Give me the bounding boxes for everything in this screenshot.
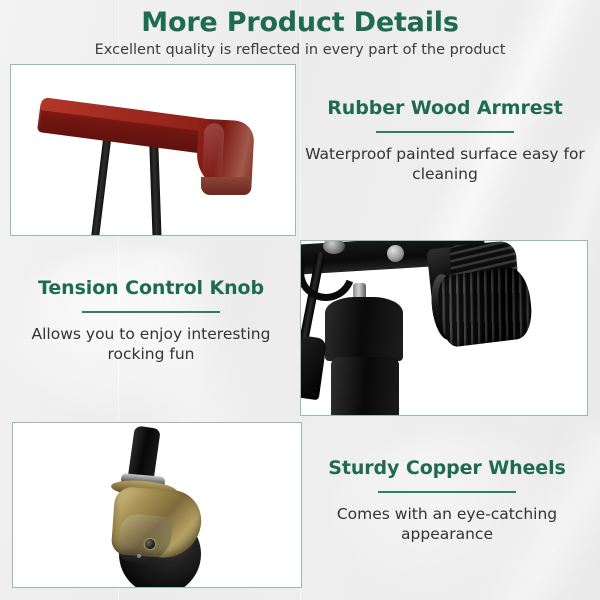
feature-tension-control-knob: Tension Control Knob Allows you to enjoy… bbox=[6, 278, 296, 365]
tension-knob-illustration bbox=[301, 241, 587, 415]
heading-underline bbox=[82, 311, 220, 313]
gas-cylinder-top bbox=[325, 297, 403, 361]
feature-description: Waterproof painted surface easy for clea… bbox=[302, 144, 588, 185]
page-subtitle: Excellent quality is reflected in every … bbox=[0, 37, 600, 59]
copper-wheel-photo bbox=[12, 422, 302, 588]
feature-rubber-wood-armrest: Rubber Wood Armrest Waterproof painted s… bbox=[302, 98, 588, 185]
chair-leg bbox=[149, 143, 161, 236]
chair-leg bbox=[90, 135, 111, 236]
feature-heading: Rubber Wood Armrest bbox=[302, 98, 588, 120]
wheel-hub bbox=[145, 539, 155, 549]
tension-knob-photo bbox=[300, 240, 588, 416]
header: More Product Details Excellent quality i… bbox=[0, 0, 600, 60]
product-details-infographic: More Product Details Excellent quality i… bbox=[0, 0, 600, 600]
heading-underline bbox=[376, 131, 514, 133]
feature-heading: Sturdy Copper Wheels bbox=[306, 458, 588, 480]
mechanism-rivet bbox=[387, 245, 404, 262]
armrest-photo bbox=[10, 64, 296, 236]
feature-description: Comes with an eye-catching appearance bbox=[306, 504, 588, 545]
feature-sturdy-copper-wheels: Sturdy Copper Wheels Comes with an eye-c… bbox=[306, 458, 588, 545]
gas-cylinder-tube bbox=[331, 357, 399, 416]
lever-grip bbox=[300, 336, 327, 401]
feature-heading: Tension Control Knob bbox=[6, 278, 296, 300]
armrest-front-tip bbox=[201, 177, 251, 195]
knurled-knob-dial bbox=[435, 266, 535, 349]
wheel-hub-dot bbox=[137, 554, 141, 558]
feature-description: Allows you to enjoy interesting rocking … bbox=[6, 324, 296, 365]
armrest-illustration bbox=[11, 65, 295, 235]
page-title: More Product Details bbox=[0, 0, 600, 37]
copper-wheel-illustration bbox=[13, 423, 301, 587]
heading-underline bbox=[378, 491, 516, 493]
